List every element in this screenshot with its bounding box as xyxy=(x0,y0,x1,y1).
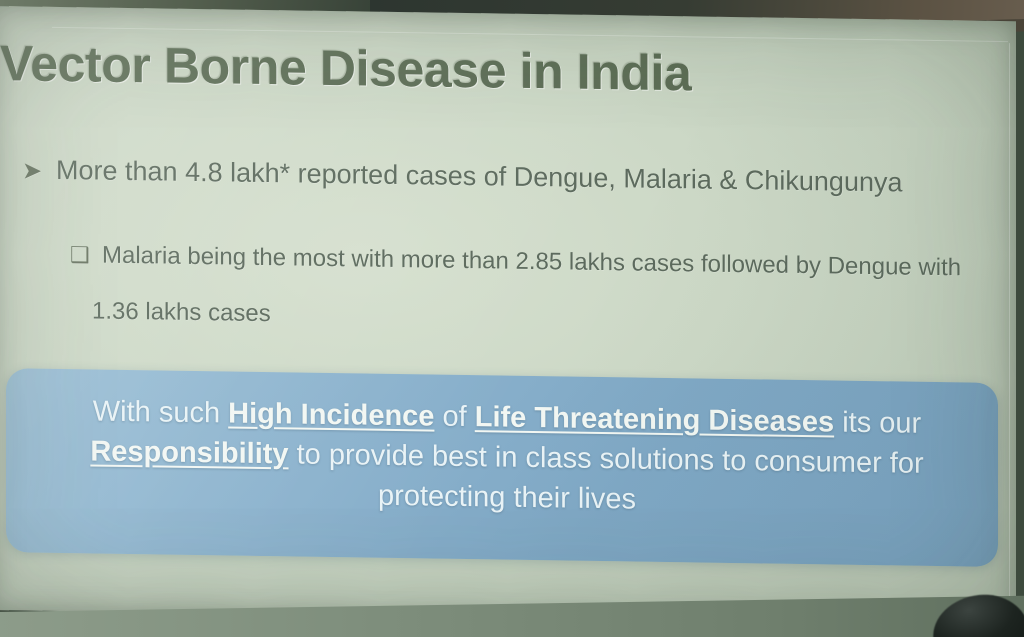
bullet-secondary-text: Malaria being the most with more than 2.… xyxy=(102,242,961,282)
bullet-continuation-text: 1.36 lakhs cases xyxy=(92,297,271,328)
callout-part-4: to provide best in class solutions to co… xyxy=(289,438,924,515)
square-bullet-icon: ❑ xyxy=(70,242,102,268)
arrow-bullet-icon: ➤ xyxy=(22,156,56,186)
projected-slide-photo: Vector Borne Disease in India ➤More than… xyxy=(0,0,1024,637)
bullet-item-primary: ➤More than 4.8 lakh* reported cases of D… xyxy=(22,154,1002,200)
callout-part-1: With such xyxy=(93,395,228,429)
callout-emphasis-life-threatening-diseases: Life Threatening Diseases xyxy=(475,401,834,438)
presentation-slide: Vector Borne Disease in India ➤More than… xyxy=(0,6,1016,625)
highlight-callout-box: With such High Incidence of Life Threate… xyxy=(6,368,998,567)
callout-emphasis-high-incidence: High Incidence xyxy=(228,398,434,433)
callout-part-3: its our xyxy=(834,406,921,439)
slide-content: Vector Borne Disease in India ➤More than… xyxy=(0,6,1016,625)
bullet-item-secondary: ❑Malaria being the most with more than 2… xyxy=(70,241,1024,283)
bullet-primary-text: More than 4.8 lakh* reported cases of De… xyxy=(56,155,903,198)
callout-part-2: of xyxy=(434,401,474,434)
callout-text: With such High Incidence of Life Threate… xyxy=(40,391,974,525)
page-title: Vector Borne Disease in India xyxy=(0,34,691,102)
callout-emphasis-responsibility: Responsibility xyxy=(90,435,288,470)
